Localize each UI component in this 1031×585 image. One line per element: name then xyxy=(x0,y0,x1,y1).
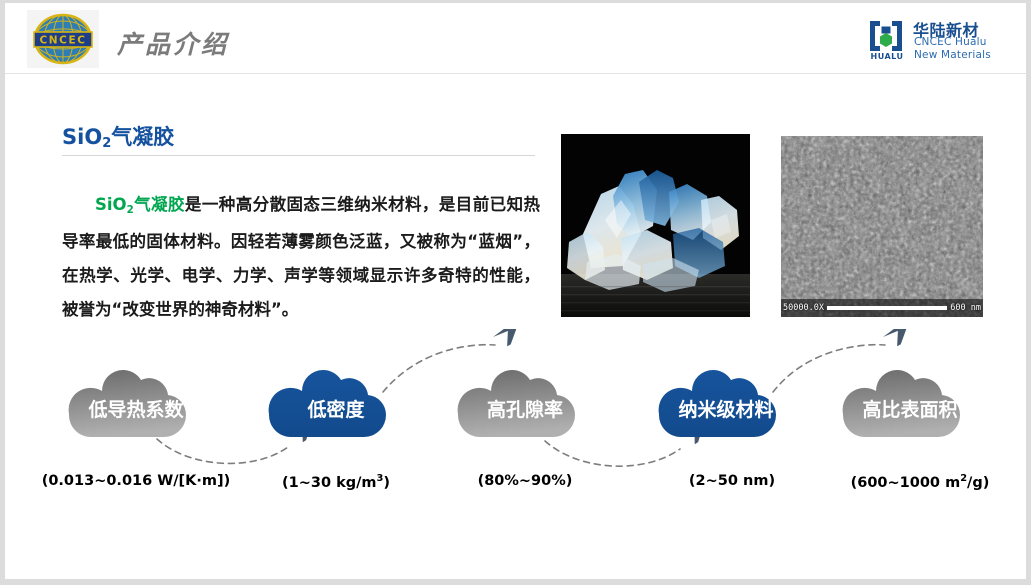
section-heading-subscript: 2 xyxy=(102,136,111,151)
paragraph-highlight-subscript: 2 xyxy=(127,205,134,216)
cloud-label-2: 低密度 xyxy=(306,398,365,421)
slide-header: CNCEC 产品介绍 HUALU 华陆新材 CNCEC Hualu New Ma… xyxy=(5,3,1026,75)
sem-scalebar: 50000.0X 600 nm xyxy=(781,301,983,315)
cloud-captions: (0.013~0.016 W/[K·m]) (1~30 kg/m3) (80%~… xyxy=(5,473,1026,503)
slide-canvas: CNCEC 产品介绍 HUALU 华陆新材 CNCEC Hualu New Ma… xyxy=(5,3,1026,579)
plane-icon-2 xyxy=(486,329,543,350)
sem-micrograph: 50000.0X 600 nm xyxy=(781,136,983,317)
cloud-labels: 低导热系数 低密度 高孔隙率 纳米级材料 高比表面积 xyxy=(87,398,957,421)
svg-text:CNCEC: CNCEC xyxy=(39,35,86,47)
section-heading: SiO2气凝胶 xyxy=(62,121,174,151)
plane-icon-4 xyxy=(876,329,933,350)
cloud-caption-1: (0.013~0.016 W/[K·m]) xyxy=(5,473,267,489)
cloud-caption-5: (600~1000 m2/g) xyxy=(818,473,1022,491)
aerogel-photo xyxy=(561,134,750,317)
cloud-label-4: 纳米级材料 xyxy=(678,398,773,421)
hualu-mark-icon xyxy=(866,19,906,53)
section-heading-prefix: SiO xyxy=(62,125,102,149)
paragraph-highlight-prefix: SiO xyxy=(95,195,127,214)
cloud-caption-2: (1~30 kg/m3) xyxy=(241,473,431,491)
arc-4-5 xyxy=(773,345,885,392)
cncec-globe-logo: CNCEC xyxy=(27,10,99,68)
cloud-caption-4: (2~50 nm) xyxy=(637,473,827,489)
paragraph-highlight-suffix: 气凝胶 xyxy=(134,195,185,214)
slide-frame: CNCEC 产品介绍 HUALU 华陆新材 CNCEC Hualu New Ma… xyxy=(0,0,1031,585)
arc-2-3 xyxy=(383,345,495,392)
paragraph-highlight: SiO2气凝胶 xyxy=(95,195,185,214)
cloud-label-5: 高比表面积 xyxy=(862,398,957,421)
section-divider xyxy=(62,155,535,156)
sem-scalebar-length-label: 600 nm xyxy=(950,303,981,313)
section-heading-suffix: 气凝胶 xyxy=(111,125,174,149)
body-paragraph: SiO2气凝胶是一种高分散固态三维纳米材料，是目前已知热导率最低的固体材料。因轻… xyxy=(62,188,540,327)
arc-1-2 xyxy=(157,439,288,463)
sem-magnification-label: 50000.0X xyxy=(783,303,824,313)
header-divider xyxy=(5,73,1026,74)
arc-3-4 xyxy=(545,441,680,466)
cloud-label-3: 高孔隙率 xyxy=(487,398,563,421)
cloud-caption-3: (80%~90%) xyxy=(430,473,620,489)
page-title: 产品介绍 xyxy=(117,25,229,61)
hualu-brand-logo: HUALU 华陆新材 CNCEC Hualu New Materials xyxy=(866,17,1014,63)
sem-scalebar-line xyxy=(827,306,947,310)
hualu-english-line-1: CNCEC Hualu xyxy=(914,36,987,48)
hualu-english-line-2: New Materials xyxy=(914,49,991,61)
cloud-label-1: 低导热系数 xyxy=(87,398,184,421)
hualu-mark-label: HUALU xyxy=(866,52,908,61)
